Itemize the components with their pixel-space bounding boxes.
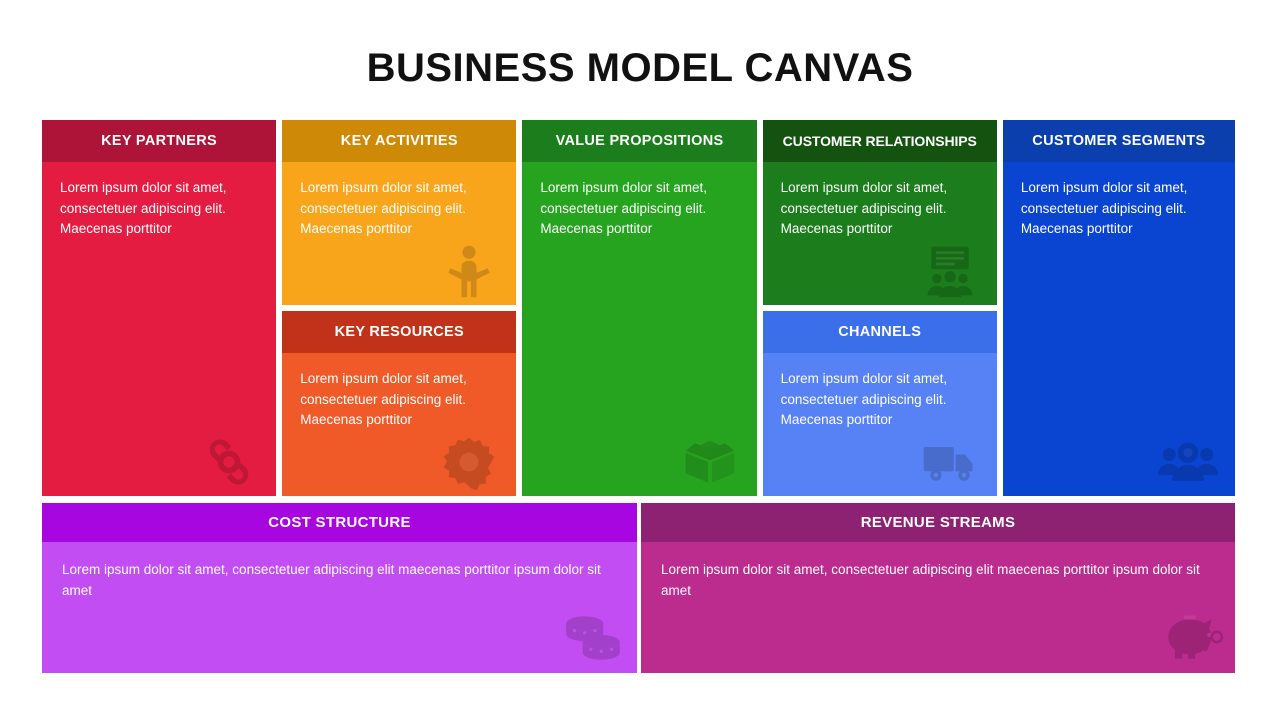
block-revenue-streams-text: Lorem ipsum dolor sit amet, consectetuer… xyxy=(661,560,1215,601)
block-key-resources-header: KEY RESOURCES xyxy=(282,311,516,353)
block-key-partners-header: KEY PARTNERS xyxy=(42,120,276,162)
block-cost-structure-text: Lorem ipsum dolor sit amet, consectetuer… xyxy=(62,560,617,601)
block-channels-header: CHANNELS xyxy=(763,311,997,353)
block-customer-relationships-body: Lorem ipsum dolor sit amet, consectetuer… xyxy=(763,162,997,305)
block-revenue-streams-header: REVENUE STREAMS xyxy=(641,503,1235,542)
block-value-propositions[interactable]: VALUE PROPOSITIONS Lorem ipsum dolor sit… xyxy=(522,120,756,496)
coin-stacks-icon xyxy=(549,605,637,671)
block-key-activities[interactable]: KEY ACTIVITIES Lorem ipsum dolor sit ame… xyxy=(282,120,516,305)
block-key-activities-header: KEY ACTIVITIES xyxy=(282,120,516,162)
canvas-bottom-grid: COST STRUCTURE Lorem ipsum dolor sit ame… xyxy=(42,503,1235,673)
block-customer-relationships-header: CUSTOMER RELATIONSHIPS xyxy=(763,120,997,162)
block-customer-relationships[interactable]: CUSTOMER RELATIONSHIPS Lorem ipsum dolor… xyxy=(763,120,997,305)
block-key-resources[interactable]: KEY RESOURCES Lorem ipsum dolor sit amet… xyxy=(282,311,516,496)
block-value-propositions-body: Lorem ipsum dolor sit amet, consectetuer… xyxy=(522,162,756,496)
block-customer-segments-header: CUSTOMER SEGMENTS xyxy=(1003,120,1235,162)
block-customer-segments[interactable]: CUSTOMER SEGMENTS Lorem ipsum dolor sit … xyxy=(1003,120,1235,496)
block-revenue-streams-body: Lorem ipsum dolor sit amet, consectetuer… xyxy=(641,542,1235,673)
block-key-partners-body: Lorem ipsum dolor sit amet, consectetuer… xyxy=(42,162,276,496)
person-icon xyxy=(432,241,506,301)
block-key-activities-text: Lorem ipsum dolor sit amet, consectetuer… xyxy=(300,178,502,240)
canvas-top-grid: KEY PARTNERS Lorem ipsum dolor sit amet,… xyxy=(42,120,1235,496)
audience-screen-icon xyxy=(913,241,987,301)
block-cost-structure-body: Lorem ipsum dolor sit amet, consectetuer… xyxy=(42,542,637,673)
column-key-partners: KEY PARTNERS Lorem ipsum dolor sit amet,… xyxy=(42,120,276,496)
page-title: BUSINESS MODEL CANVAS xyxy=(0,44,1280,92)
piggy-bank-icon xyxy=(1147,605,1235,671)
column-customer-segments: CUSTOMER SEGMENTS Lorem ipsum dolor sit … xyxy=(1003,120,1235,496)
people-group-icon xyxy=(1151,432,1225,492)
business-model-canvas: BUSINESS MODEL CANVAS KEY PARTNERS Lorem… xyxy=(0,0,1280,720)
column-key-activities: KEY ACTIVITIES Lorem ipsum dolor sit ame… xyxy=(282,120,516,496)
block-customer-segments-body: Lorem ipsum dolor sit amet, consectetuer… xyxy=(1003,162,1235,496)
block-revenue-streams[interactable]: REVENUE STREAMS Lorem ipsum dolor sit am… xyxy=(641,503,1235,673)
block-cost-structure-header: COST STRUCTURE xyxy=(42,503,637,542)
block-key-partners[interactable]: KEY PARTNERS Lorem ipsum dolor sit amet,… xyxy=(42,120,276,496)
block-cost-structure[interactable]: COST STRUCTURE Lorem ipsum dolor sit ame… xyxy=(42,503,637,673)
column-value-propositions: VALUE PROPOSITIONS Lorem ipsum dolor sit… xyxy=(522,120,756,496)
block-customer-relationships-text: Lorem ipsum dolor sit amet, consectetuer… xyxy=(781,178,983,240)
block-channels-text: Lorem ipsum dolor sit amet, consectetuer… xyxy=(781,369,983,431)
open-box-icon xyxy=(673,432,747,492)
block-key-resources-body: Lorem ipsum dolor sit amet, consectetuer… xyxy=(282,353,516,496)
delivery-truck-icon xyxy=(913,432,987,492)
block-customer-segments-text: Lorem ipsum dolor sit amet, consectetuer… xyxy=(1021,178,1221,240)
chain-link-icon xyxy=(192,432,266,492)
block-key-activities-body: Lorem ipsum dolor sit amet, consectetuer… xyxy=(282,162,516,305)
block-value-propositions-text: Lorem ipsum dolor sit amet, consectetuer… xyxy=(540,178,742,240)
block-channels-body: Lorem ipsum dolor sit amet, consectetuer… xyxy=(763,353,997,496)
column-customer-relationships: CUSTOMER RELATIONSHIPS Lorem ipsum dolor… xyxy=(763,120,997,496)
block-channels[interactable]: CHANNELS Lorem ipsum dolor sit amet, con… xyxy=(763,311,997,496)
gear-icon xyxy=(432,432,506,492)
block-key-resources-text: Lorem ipsum dolor sit amet, consectetuer… xyxy=(300,369,502,431)
block-key-partners-text: Lorem ipsum dolor sit amet, consectetuer… xyxy=(60,178,262,240)
block-value-propositions-header: VALUE PROPOSITIONS xyxy=(522,120,756,162)
